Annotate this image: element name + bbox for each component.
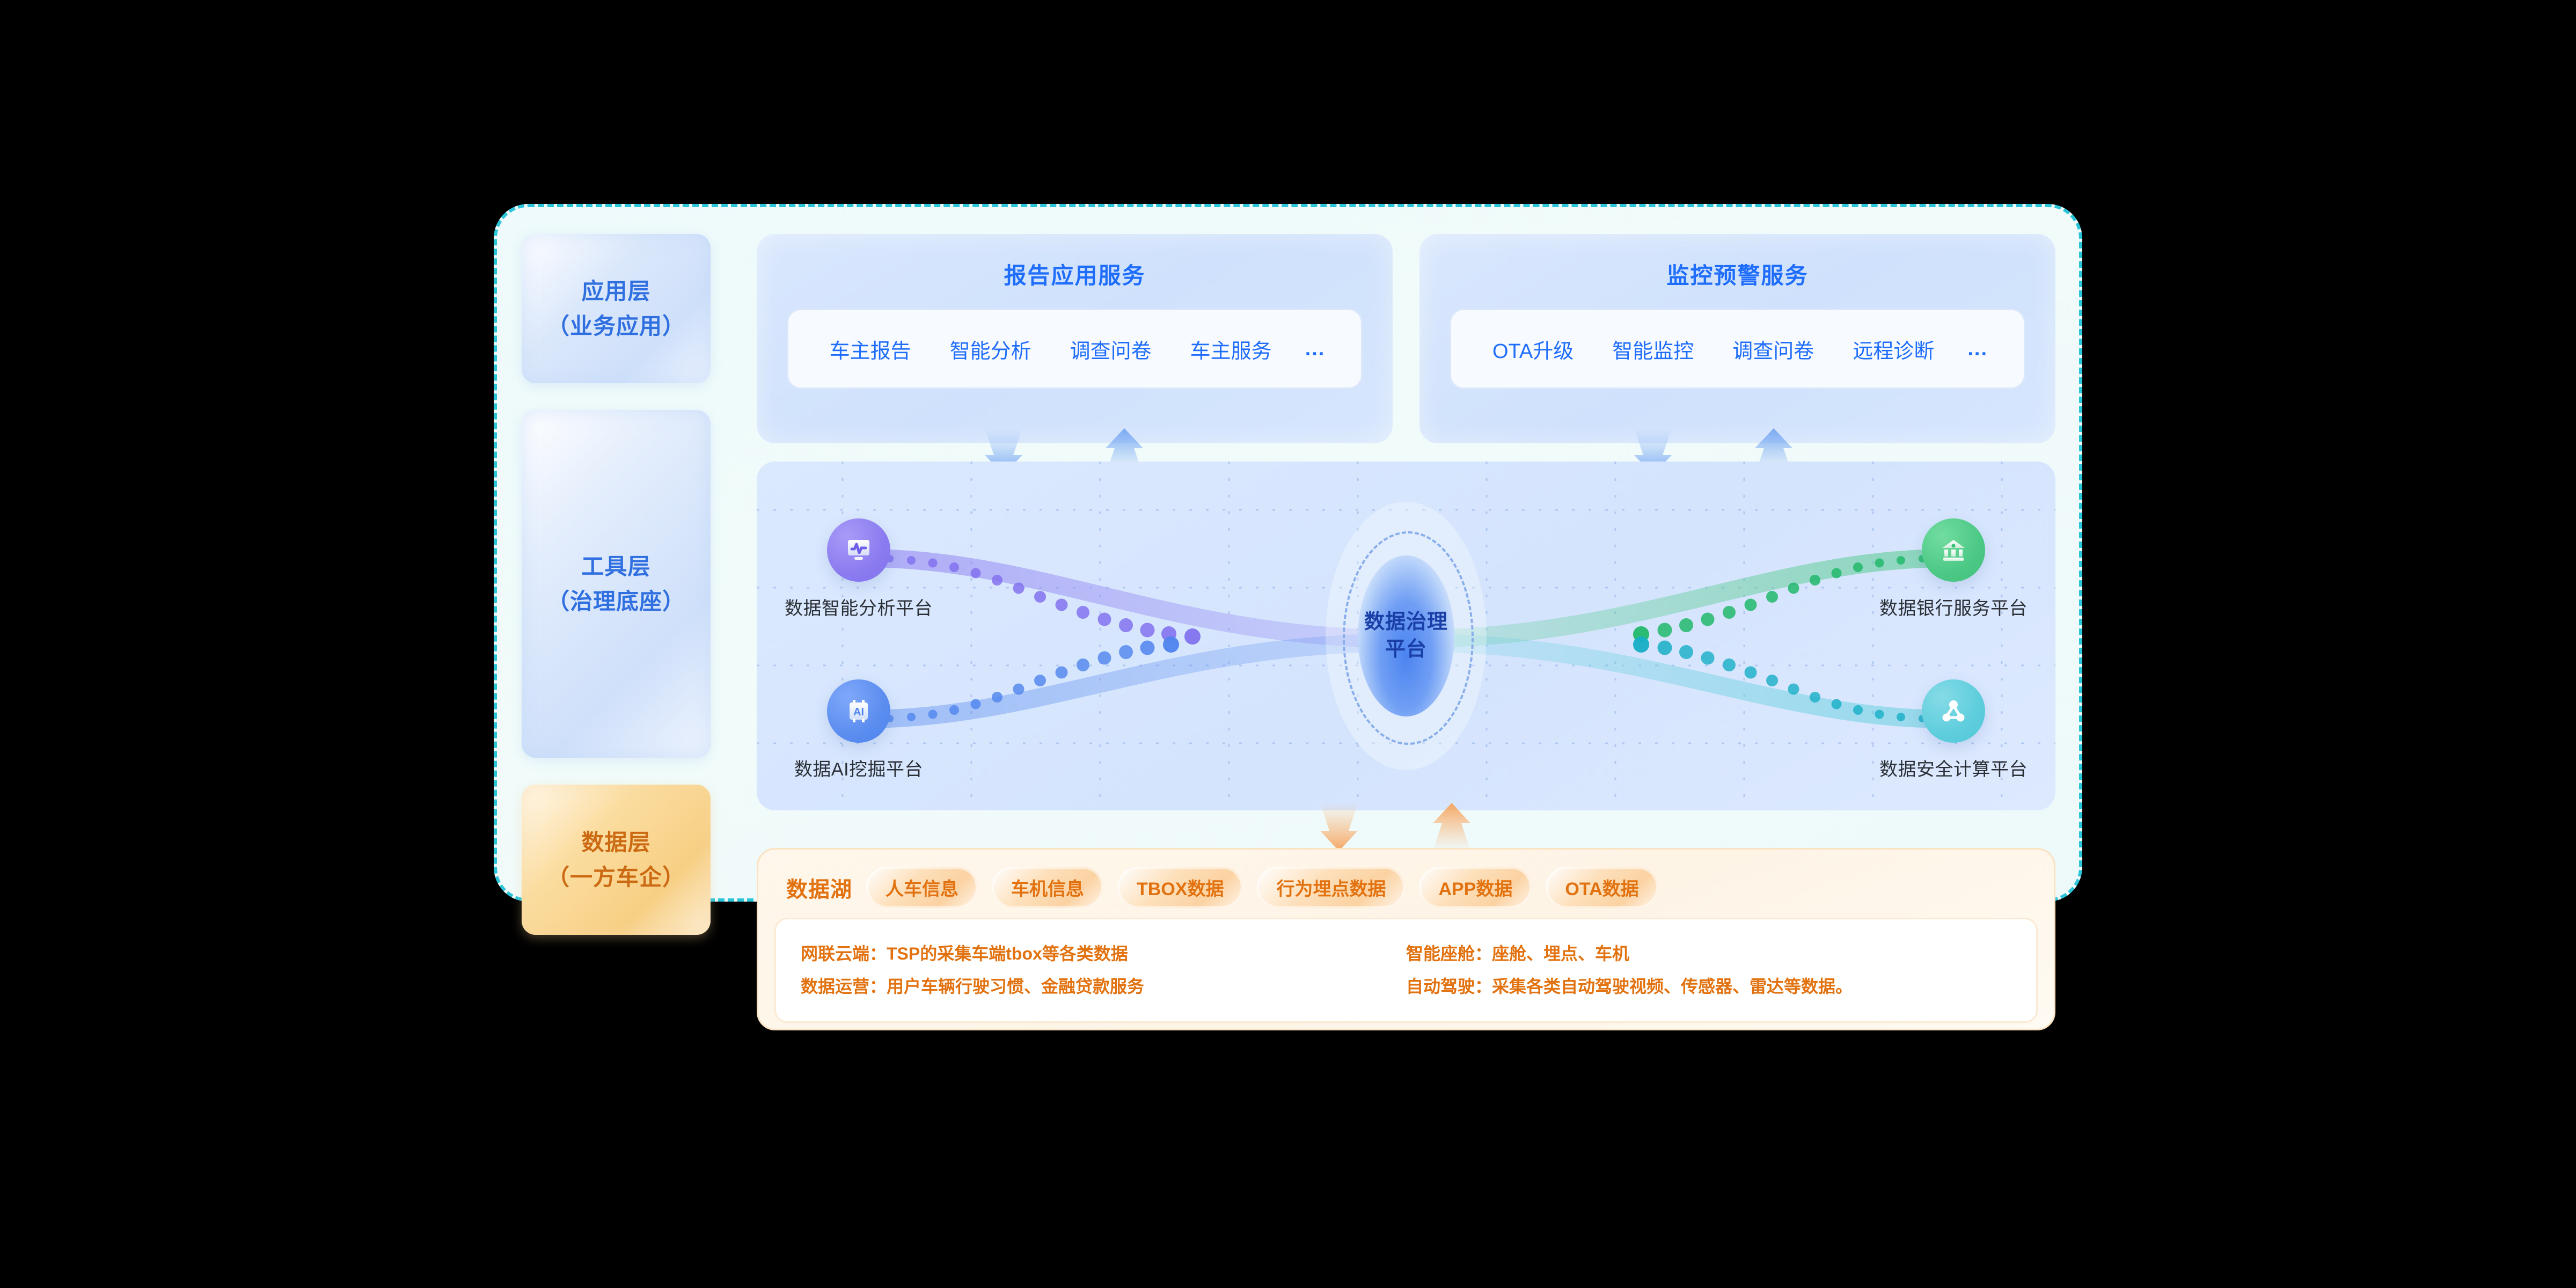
- data-lake-line-cockpit: 智能座舱：座舱、埋点、车机: [1406, 938, 2011, 970]
- governance-hub[interactable]: 数据治理 平台: [1245, 486, 1567, 786]
- rail-label-line1: 数据层: [547, 825, 685, 860]
- app-item-owner-report[interactable]: 车主报告: [810, 334, 931, 364]
- app-item-more-ellipsis[interactable]: ...: [1291, 338, 1340, 361]
- data-lake-panel: 数据湖 人车信息 车机信息 TBOX数据 行为埋点数据 APP数据 OTA数据 …: [757, 848, 2055, 1030]
- data-lake-right-column: 智能座舱：座舱、埋点、车机 自动驾驶：采集各类自动驾驶视频、传感器、雷达等数据。: [1406, 938, 2011, 1003]
- app-item-questionnaire[interactable]: 调查问卷: [1713, 334, 1833, 364]
- app-item-questionnaire[interactable]: 调查问卷: [1051, 334, 1171, 364]
- tool-node-label: 数据智能分析平台: [762, 594, 955, 620]
- app-item-more-ellipsis[interactable]: ...: [1953, 338, 2002, 361]
- ai-chip-icon: AI: [827, 679, 890, 743]
- tool-node-ai-mining[interactable]: AI 数据AI挖掘平台: [762, 679, 955, 781]
- tool-layer-panel: 数据智能分析平台 AI 数据AI挖掘平台: [757, 462, 2055, 810]
- layer-rail: 应用层 （业务应用） 工具层 （治理底座） 数据层 （一方车企）: [522, 234, 711, 935]
- app-item-smart-monitor[interactable]: 智能监控: [1593, 334, 1713, 364]
- app-item-smart-analysis[interactable]: 智能分析: [931, 334, 1051, 364]
- bank-icon: [1922, 518, 1985, 582]
- app-card-title: 监控预警服务: [1450, 258, 2025, 290]
- data-tag-behavior-tracking[interactable]: 行为埋点数据: [1257, 867, 1405, 908]
- rail-label-line2: （治理底座）: [547, 584, 685, 619]
- rail-item-application-layer[interactable]: 应用层 （业务应用）: [522, 234, 711, 383]
- tool-node-label: 数据安全计算平台: [1857, 755, 2050, 781]
- data-lake-left-column: 网联云端：TSP的采集车端tbox等各类数据 数据运营：用户车辆行驶习惯、金融贷…: [801, 938, 1406, 1003]
- diagram-canvas: 应用层 （业务应用） 工具层 （治理底座） 数据层 （一方车企） 报告应用服务 …: [0, 0, 2576, 1288]
- data-lake-line-autodrive: 自动驾驶：采集各类自动驾驶视频、传感器、雷达等数据。: [1406, 970, 2011, 1003]
- app-card-title: 报告应用服务: [787, 258, 1363, 290]
- rail-label-line2: （一方车企）: [547, 860, 685, 895]
- data-lake-line-operation: 数据运营：用户车辆行驶习惯、金融贷款服务: [801, 970, 1406, 1003]
- arrow-down-icon: [1320, 803, 1358, 851]
- arrow-up-icon: [1433, 803, 1470, 851]
- data-lake-tag-row: 数据湖 人车信息 车机信息 TBOX数据 行为埋点数据 APP数据 OTA数据: [774, 863, 2038, 918]
- app-item-list: OTA升级 智能监控 调查问卷 远程诊断 ...: [1450, 309, 2025, 389]
- monitor-waveform-icon: [827, 518, 890, 582]
- tool-node-data-bank[interactable]: 数据银行服务平台: [1857, 518, 2050, 620]
- data-lake-line-cloud: 网联云端：TSP的采集车端tbox等各类数据: [801, 938, 1406, 970]
- rail-label-line1: 工具层: [547, 549, 685, 584]
- tool-to-data-arrows: [757, 795, 2055, 854]
- rail-item-tool-layer[interactable]: 工具层 （治理底座）: [522, 410, 711, 758]
- tool-node-label: 数据银行服务平台: [1857, 594, 2050, 620]
- hub-label-line2: 平台: [1385, 638, 1427, 661]
- tool-node-label: 数据AI挖掘平台: [762, 755, 955, 781]
- application-layer-row: 报告应用服务 车主报告 智能分析 调查问卷 车主服务 ... 监控预警服务 OT…: [757, 234, 2055, 443]
- tool-node-secure-compute[interactable]: 数据安全计算平台: [1857, 679, 2050, 781]
- tool-node-analysis[interactable]: 数据智能分析平台: [762, 518, 955, 620]
- data-tag-tbox[interactable]: TBOX数据: [1117, 867, 1243, 908]
- data-lake-title: 数据湖: [786, 872, 852, 903]
- hub-core-circle: 数据治理 平台: [1358, 555, 1454, 716]
- hub-label-line1: 数据治理: [1364, 611, 1448, 633]
- share-nodes-icon: [1922, 679, 1985, 743]
- rail-label-line1: 应用层: [547, 274, 685, 309]
- app-item-owner-service[interactable]: 车主服务: [1171, 334, 1291, 364]
- app-card-report-service[interactable]: 报告应用服务 车主报告 智能分析 调查问卷 车主服务 ...: [757, 234, 1393, 443]
- rail-item-data-layer[interactable]: 数据层 （一方车企）: [522, 785, 711, 935]
- data-tag-vehicle-machine[interactable]: 车机信息: [992, 867, 1103, 908]
- data-tag-app[interactable]: APP数据: [1419, 867, 1532, 908]
- data-tag-people-vehicle[interactable]: 人车信息: [866, 867, 978, 908]
- svg-text:AI: AI: [853, 706, 864, 718]
- data-lake-description: 网联云端：TSP的采集车端tbox等各类数据 数据运营：用户车辆行驶习惯、金融贷…: [774, 918, 2038, 1023]
- data-tag-ota[interactable]: OTA数据: [1546, 867, 1658, 908]
- app-item-list: 车主报告 智能分析 调查问卷 车主服务 ...: [787, 309, 1363, 389]
- rail-label-line2: （业务应用）: [547, 309, 685, 343]
- app-item-ota-upgrade[interactable]: OTA升级: [1473, 334, 1593, 364]
- app-card-monitor-alert-service[interactable]: 监控预警服务 OTA升级 智能监控 调查问卷 远程诊断 ...: [1419, 234, 2055, 443]
- app-item-remote-diagnose[interactable]: 远程诊断: [1833, 334, 1953, 364]
